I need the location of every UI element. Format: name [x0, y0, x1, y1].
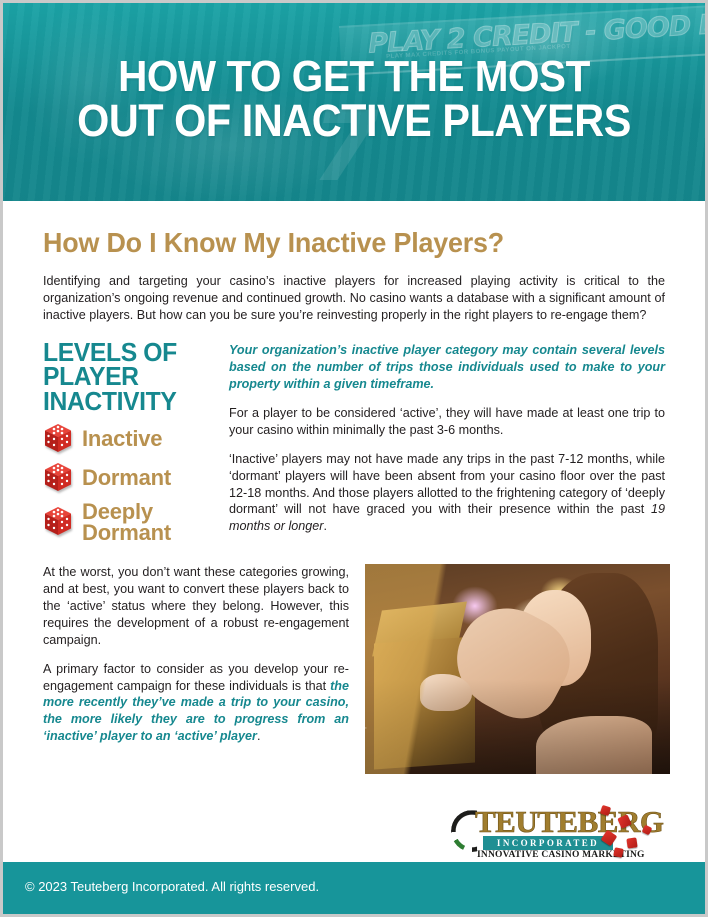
inactive-definition-text-a: ‘Inactive’ players may not have made any…	[229, 452, 665, 517]
level-label: Inactive	[82, 428, 162, 449]
level-item-inactive: Inactive	[43, 423, 215, 455]
red-die-icon	[43, 462, 73, 494]
copyright-text: © 2023 Teuteberg Incorporated. All right…	[25, 879, 319, 894]
teuteberg-logo: TEUTEBERG INCORPORATED INNOVATIVE CASINO…	[451, 800, 651, 866]
slot-machine-body	[374, 636, 475, 769]
lower-text-column: At the worst, you don’t want these categ…	[43, 564, 349, 774]
active-definition-paragraph: For a player to be considered ‘active’, …	[229, 405, 665, 439]
levels-heading: LEVELS OF PLAYER INACTIVITY	[43, 340, 206, 414]
page-title: HOW TO GET THE MOST OUT OF INACTIVE PLAY…	[31, 55, 677, 143]
level-item-dormant: Dormant	[43, 462, 215, 494]
section-heading: How Do I Know My Inactive Players?	[43, 227, 640, 259]
page-footer: © 2023 Teuteberg Incorporated. All right…	[3, 862, 705, 914]
photo-artwork	[365, 564, 670, 774]
red-die-icon	[43, 423, 73, 455]
inactive-definition-text-b: .	[324, 519, 328, 533]
player-hair	[536, 573, 658, 775]
logo-company-name: TEUTEBERG	[475, 806, 663, 837]
player-face	[518, 590, 591, 687]
page-title-line-2: OUT OF INACTIVE PLAYERS	[31, 99, 677, 144]
primary-factor-text-a: A primary factor to consider as you deve…	[43, 662, 349, 693]
document-page: PLAY 2 CREDIT - GOOD LUCK! PLAY MAX CRED…	[3, 3, 705, 914]
logo-incorporated-text: INCORPORATED	[483, 836, 613, 850]
document-content: How Do I Know My Inactive Players? Ident…	[3, 227, 705, 878]
slot-machine-photo: Adobe Stock | #196754542	[365, 564, 670, 774]
player-shoulder	[536, 716, 652, 775]
red-die-icon	[43, 506, 73, 538]
page-title-line-1: HOW TO GET THE MOST	[31, 55, 677, 99]
photo-credit: Adobe Stock | #196754542	[365, 689, 367, 768]
level-item-deeply-dormant: Deeply Dormant	[43, 501, 215, 544]
primary-factor-paragraph: A primary factor to consider as you deve…	[43, 661, 349, 745]
level-label: Deeply Dormant	[82, 501, 215, 544]
lower-section: At the worst, you don’t want these categ…	[43, 564, 665, 774]
inactive-definition-paragraph: ‘Inactive’ players may not have made any…	[229, 451, 665, 535]
level-label: Dormant	[82, 467, 171, 488]
player-hand	[420, 674, 472, 712]
scattered-die-icon	[626, 838, 637, 849]
primary-factor-text-b: .	[257, 729, 261, 743]
player-arm	[439, 591, 583, 732]
logo-incorporated-bar: INCORPORATED	[483, 836, 613, 850]
levels-column: LEVELS OF PLAYER INACTIVITY	[43, 340, 215, 551]
lead-emphasis-paragraph: Your organization’s inactive player cate…	[229, 342, 665, 393]
levels-description-column: Your organization’s inactive player cate…	[229, 340, 665, 551]
levels-section: LEVELS OF PLAYER INACTIVITY	[43, 340, 665, 551]
intro-paragraph: Identifying and targeting your casino’s …	[43, 273, 665, 324]
header-banner: PLAY 2 CREDIT - GOOD LUCK! PLAY MAX CRED…	[3, 3, 705, 201]
slot-machine-top	[372, 602, 467, 657]
worst-case-paragraph: At the worst, you don’t want these categ…	[43, 564, 349, 648]
